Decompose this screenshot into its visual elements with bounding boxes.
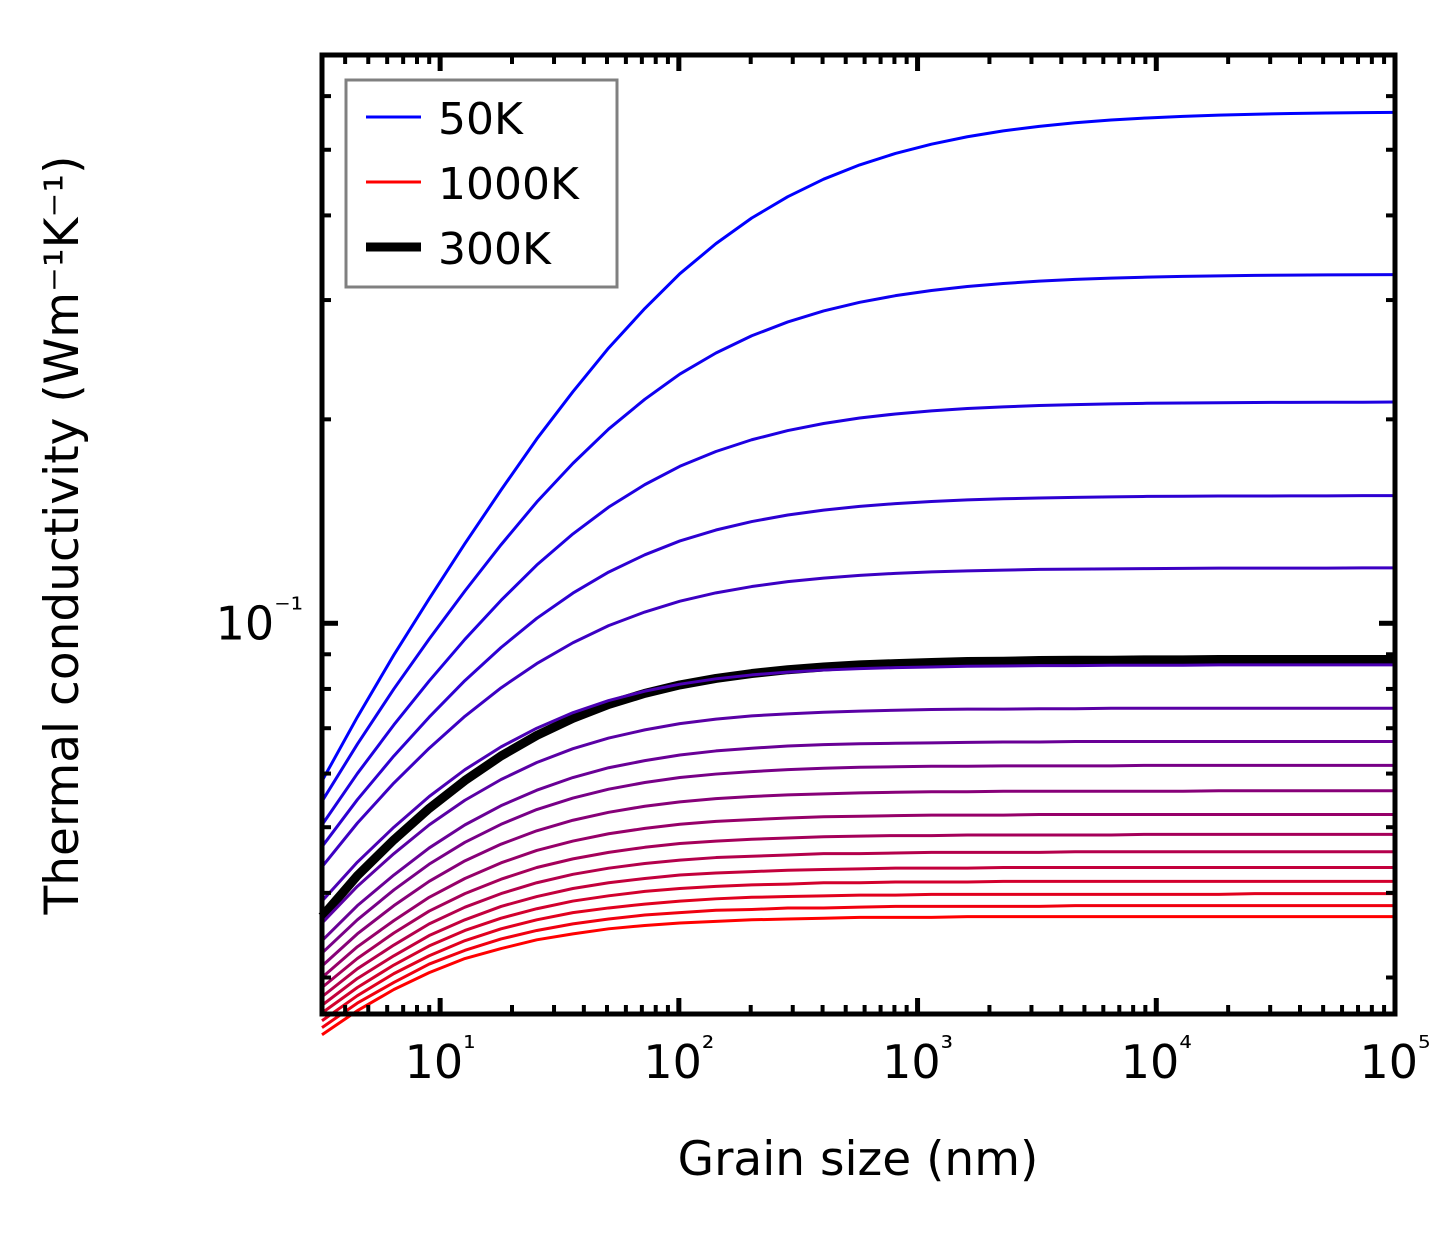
chart-legend[interactable]: 50K1000K300K [346,80,617,287]
legend-label-300k: 300K [438,224,552,275]
thermal-conductivity-chart: 10¹10²10³10⁴10⁵ 10⁻¹ Grain size (nm) The… [0,0,1454,1254]
x-axis-label: Grain size (nm) [678,1132,1039,1187]
y-axis-label: Thermal conductivity (Wm⁻¹K⁻¹) [35,156,90,916]
legend-label-1000k: 1000K [438,159,580,210]
legend-label-50k: 50K [438,94,524,145]
figure-container: 10¹10²10³10⁴10⁵ 10⁻¹ Grain size (nm) The… [0,0,1454,1254]
